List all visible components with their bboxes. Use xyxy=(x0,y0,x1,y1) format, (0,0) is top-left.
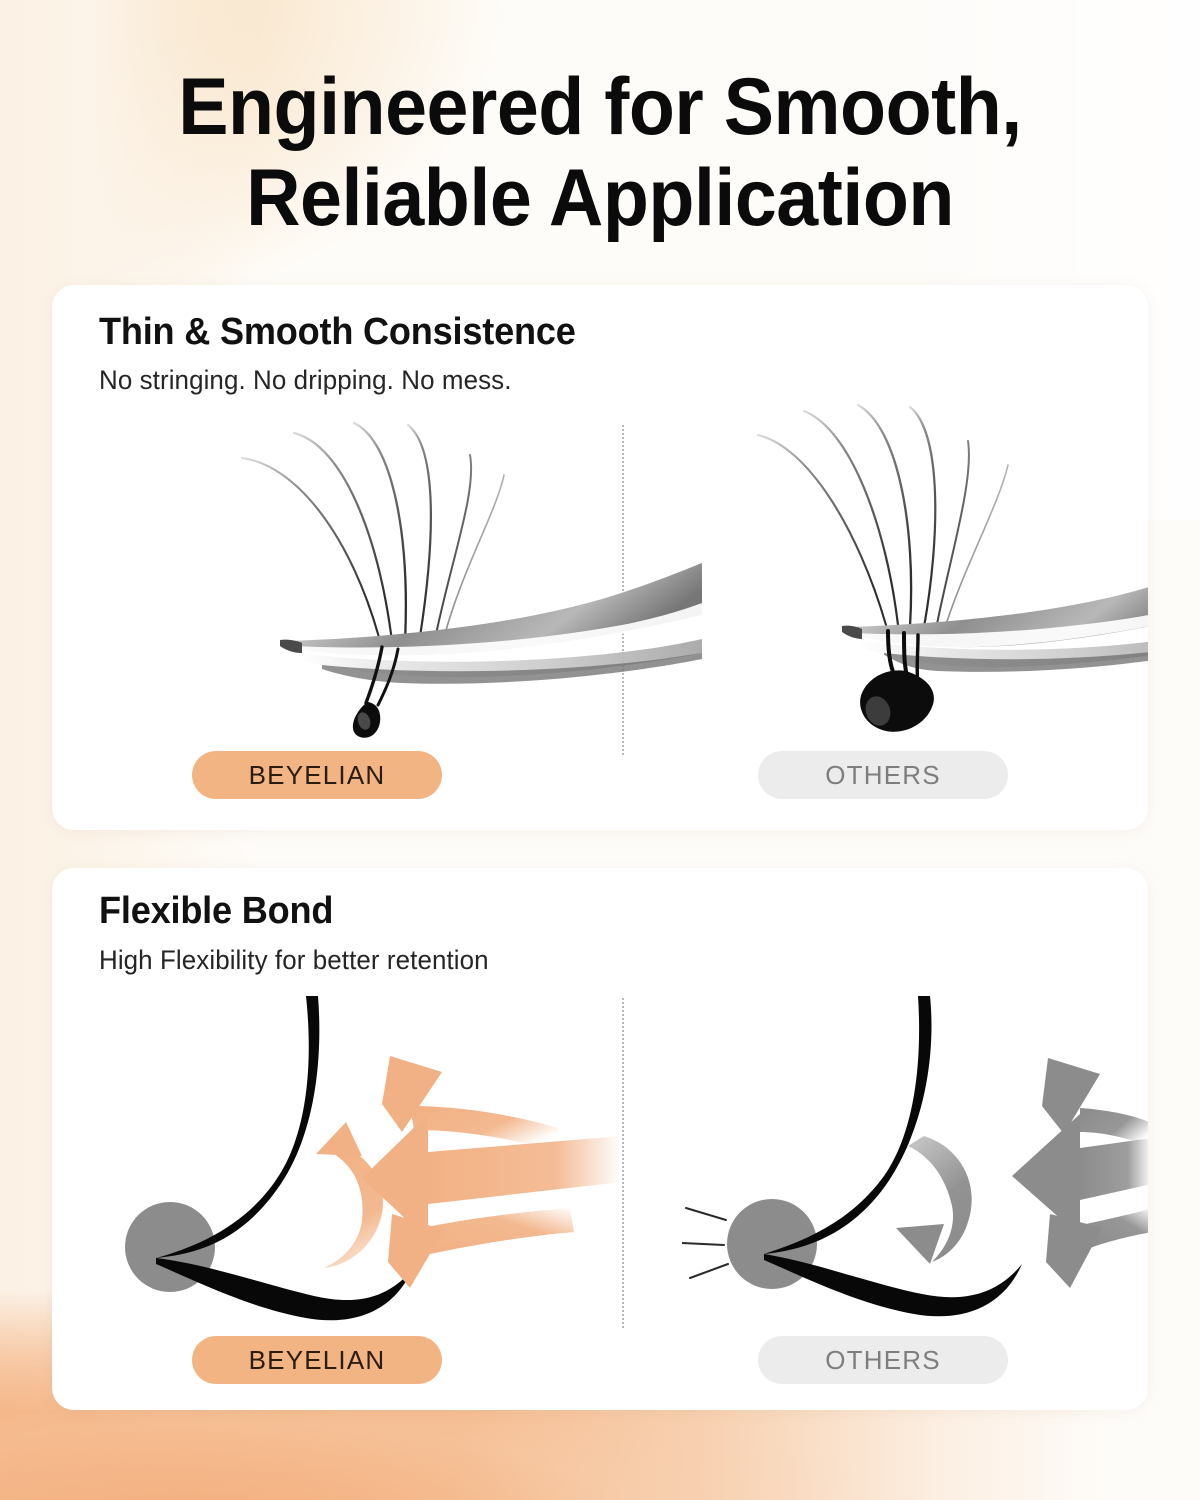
card-title: Flexible Bond xyxy=(99,890,333,933)
arrow-curved-rotate-icon xyxy=(896,1136,972,1264)
lash-fan-icon xyxy=(758,405,1008,631)
arrow-curved-rotate-icon xyxy=(316,1122,383,1268)
page-title-line-1: Engineered for Smooth, xyxy=(42,62,1158,153)
page-title-line-2: Reliable Application xyxy=(42,153,1158,244)
tweezers-icon xyxy=(288,563,702,655)
lash-fan-icon xyxy=(242,423,504,645)
card-title: Thin & Smooth Consistence xyxy=(99,311,576,354)
badge-others: OTHERS xyxy=(758,1336,1008,1384)
lash-tweezers-svg xyxy=(202,403,702,743)
flex-bond-svg xyxy=(110,996,630,1326)
illustration-beyelian-flexible-bond xyxy=(110,996,630,1326)
illustration-beyelian-thin-glue xyxy=(202,403,702,743)
lash-tweezers-svg xyxy=(746,403,1148,743)
lash-lower-icon xyxy=(764,1254,1022,1316)
illustration-others-thick-glue xyxy=(746,403,1148,743)
card-subtitle: No stringing. No dripping. No mess. xyxy=(99,365,512,396)
badge-beyelian: BEYELIAN xyxy=(192,1336,442,1384)
feature-card-flexible-bond: Flexible Bond High Flexibility for bette… xyxy=(52,868,1148,1410)
card-subtitle: High Flexibility for better retention xyxy=(99,945,489,976)
stress-lines-icon xyxy=(682,1208,728,1278)
arrow-downleft-icon xyxy=(1046,1208,1148,1288)
lash-lower-icon xyxy=(156,1258,412,1320)
page-title: Engineered for Smooth, Reliable Applicat… xyxy=(42,62,1158,243)
badge-others: OTHERS xyxy=(758,751,1008,799)
marketing-infographic: Engineered for Smooth, Reliable Applicat… xyxy=(0,0,1200,1500)
illustration-others-rigid-bond xyxy=(682,996,1148,1326)
flex-bond-svg xyxy=(682,996,1148,1326)
badge-beyelian: BEYELIAN xyxy=(192,751,442,799)
feature-card-thin-smooth-consistence: Thin & Smooth Consistence No stringing. … xyxy=(52,285,1148,830)
